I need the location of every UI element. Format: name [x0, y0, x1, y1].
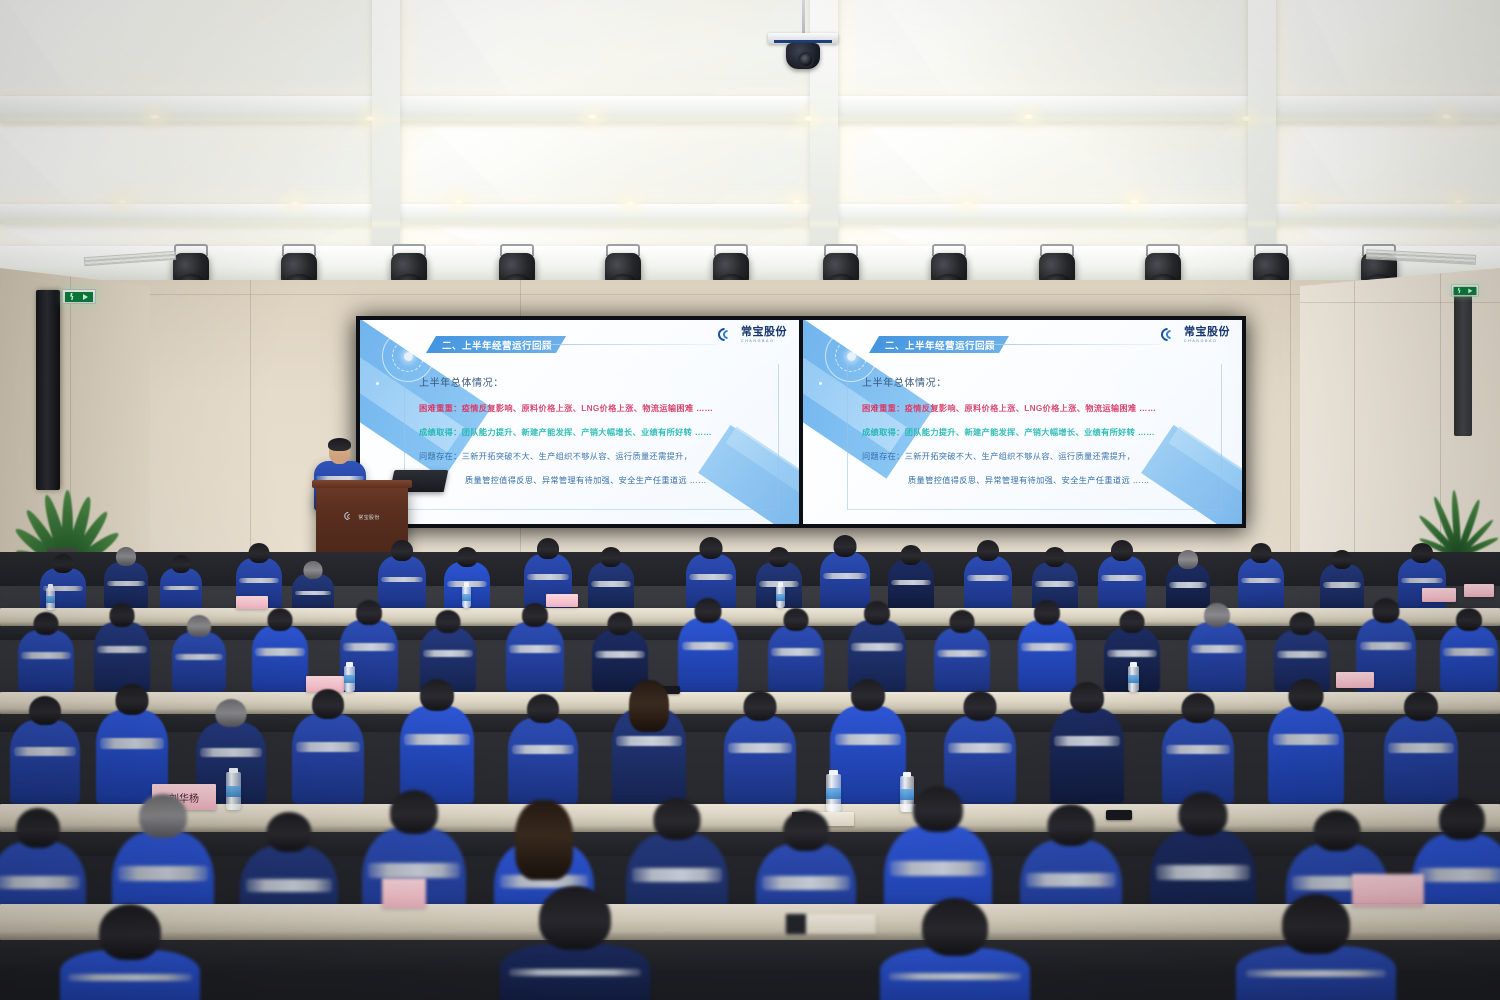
- slide-line-problems-cont: 质量管控值得反思、异常管理有待加强、安全生产任重道远 ……: [419, 474, 768, 486]
- slide-panel-left[interactable]: 二、上半年经营运行回顾 常宝股份 CHANGBAO 上半年总体情况： 困难重重：…: [360, 320, 799, 524]
- audience-member: [888, 560, 934, 612]
- name-card: [236, 596, 268, 609]
- slide-body: 上半年总体情况： 困难重重：疫情反复影响、原料价格上涨、LNG价格上涨、物流运输…: [847, 364, 1222, 510]
- water-bottle: [1128, 666, 1139, 692]
- name-card: [1464, 584, 1494, 597]
- slide-line-achievements: 成绩取得：团队能力提升、新建产能发挥、产销大幅增长、业绩有所好转 ……: [419, 426, 768, 438]
- downlight: [288, 200, 301, 207]
- audience-member: [1384, 716, 1458, 804]
- audience-member: [160, 568, 202, 612]
- notebook: [786, 914, 876, 934]
- downlight: [364, 115, 377, 122]
- downlight: [452, 198, 465, 205]
- camera-lens-icon: [798, 52, 814, 68]
- changbao-wave-icon: [344, 512, 355, 522]
- audience-member: [1268, 706, 1344, 804]
- slide-line-problems: 问题存在：三新开拓突破不大、生产组织不够从容、运行质量还需提升，: [419, 450, 768, 462]
- slide-panel-right[interactable]: 二、上半年经营运行回顾 常宝股份 CHANGBAO 上半年总体情况： 困难重重：…: [803, 320, 1242, 524]
- audience-member: [18, 630, 74, 692]
- audience-member: [1188, 622, 1246, 692]
- audience-member: [964, 556, 1012, 610]
- audience-member: [1320, 564, 1364, 612]
- logo-text-en: CHANGBAO: [741, 340, 787, 344]
- slide-line-difficulties: 困难重重：疫情反复影响、原料价格上涨、LNG价格上涨、物流运输困难 ……: [419, 402, 768, 414]
- water-bottle: [900, 776, 914, 812]
- changbao-wave-icon: [718, 327, 737, 344]
- camera-stem: [802, 0, 805, 34]
- logo-text-cn: 常宝股份: [741, 327, 787, 338]
- water-bottle: [462, 586, 471, 608]
- audience-member: [252, 626, 308, 692]
- audience-member: [678, 618, 738, 692]
- audience-member: [1166, 564, 1210, 612]
- downlight: [586, 113, 599, 120]
- audience-member: [768, 626, 824, 692]
- downlight: [790, 198, 803, 205]
- audience-member: [1050, 708, 1124, 804]
- water-bottle: [344, 666, 355, 692]
- downlight: [148, 113, 161, 120]
- desk-row: [0, 904, 1500, 940]
- slide-line-difficulties: 困难重重：疫情反复影响、原料价格上涨、LNG价格上涨、物流运输困难 ……: [862, 402, 1211, 414]
- audience-member: [880, 948, 1030, 1000]
- slide-heading: 上半年总体情况：: [419, 374, 768, 389]
- desk-row: [0, 608, 1500, 626]
- water-bottle: [826, 774, 841, 812]
- slide-line-achievements: 成绩取得：团队能力提升、新建产能发挥、产销大幅增长、业绩有所好转 ……: [862, 426, 1211, 438]
- audience-member: [724, 716, 796, 804]
- company-logo: 常宝股份 CHANGBAO: [1161, 327, 1230, 344]
- led-screen-wall[interactable]: 二、上半年经营运行回顾 常宝股份 CHANGBAO 上半年总体情况： 困难重重：…: [356, 316, 1246, 528]
- audience-member: [820, 552, 870, 610]
- audience-member: [378, 556, 426, 610]
- downlight: [624, 200, 637, 207]
- water-bottle: [776, 586, 785, 608]
- name-card: [1336, 672, 1374, 688]
- downlight: [1452, 198, 1465, 205]
- slide-title-rule: [536, 344, 717, 345]
- audience-member: [1398, 558, 1446, 610]
- slide-body: 上半年总体情况： 困难重重：疫情反复影响、原料价格上涨、LNG价格上涨、物流运输…: [404, 364, 779, 510]
- wall-speaker-right: [1454, 286, 1472, 436]
- downlight: [802, 115, 815, 122]
- audience-member: [172, 632, 226, 692]
- audience-member: [1238, 558, 1284, 610]
- downlight: [960, 200, 973, 207]
- slide-title-rule: [979, 344, 1160, 345]
- downlight: [1240, 115, 1253, 122]
- audience-member: [60, 950, 200, 1000]
- audience-member: [588, 562, 634, 612]
- water-bottle: [226, 772, 241, 810]
- audience-member: [1098, 556, 1146, 610]
- name-card: [1422, 588, 1456, 602]
- audience-member: [934, 628, 990, 692]
- glasses-icon: [331, 449, 348, 453]
- audience-member: [508, 718, 578, 804]
- audience-member: [10, 720, 80, 804]
- smartphone[interactable]: [1106, 810, 1132, 820]
- downlight: [1022, 113, 1035, 120]
- audience-member: [1162, 718, 1234, 804]
- audience-member: [1440, 626, 1498, 692]
- downlight: [116, 198, 129, 205]
- name-card: [382, 878, 426, 908]
- audience-floor: 刘华杨: [0, 560, 1500, 1000]
- plant-left: [4, 440, 120, 570]
- exit-sign-left: [62, 289, 96, 304]
- logo-text-cn: 常宝股份: [1184, 327, 1230, 338]
- downlight: [1128, 198, 1141, 205]
- audience-member: [1236, 946, 1396, 1000]
- changbao-wave-icon: [1161, 327, 1180, 344]
- exit-sign-icon: [65, 292, 93, 302]
- audience-member: [612, 708, 686, 804]
- exit-sign-right: [1451, 284, 1479, 296]
- audience-member: [500, 944, 650, 1000]
- audience-member: [506, 622, 564, 692]
- conference-hall-scene: 二、上半年经营运行回顾 常宝股份 CHANGBAO 上半年总体情况： 困难重重：…: [0, 0, 1500, 1000]
- audience-member: [830, 706, 906, 804]
- name-card: [546, 594, 578, 607]
- downlight: [1440, 113, 1453, 120]
- audience-member: [94, 622, 150, 692]
- plant-right: [1420, 436, 1490, 556]
- downlight: [1300, 200, 1313, 207]
- logo-text-en: CHANGBAO: [1184, 340, 1230, 344]
- exit-sign-icon: [1454, 286, 1477, 294]
- water-bottle: [46, 588, 55, 610]
- podium-logo-text: 常宝股份: [358, 514, 380, 521]
- audience-member: [1018, 620, 1076, 692]
- podium-logo: 常宝股份: [344, 512, 380, 522]
- company-logo: 常宝股份 CHANGBAO: [718, 327, 787, 344]
- name-card: [1352, 874, 1424, 906]
- desk-row: [0, 804, 1500, 832]
- slide-line-problems: 问题存在：三新开拓突破不大、生产组织不够从容、运行质量还需提升，: [862, 450, 1211, 462]
- audience-member: [292, 714, 364, 804]
- slide-line-problems-cont: 质量管控值得反思、异常管理有待加强、安全生产任重道远 ……: [862, 474, 1211, 486]
- audience-member: [944, 716, 1016, 804]
- slide-heading: 上半年总体情况：: [862, 374, 1211, 389]
